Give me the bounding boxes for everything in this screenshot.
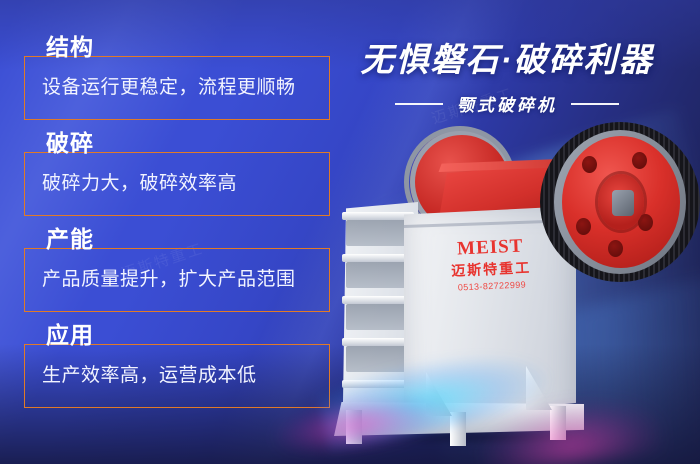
frame-recess [346,304,410,330]
flywheel-shaft [612,190,634,216]
main-flywheel [540,122,700,282]
feature-card-title: 破碎 [42,132,102,155]
feature-card-list: 结构 设备运行更稳定，流程更顺畅 破碎 破碎力大，破碎效率高 产能 产品质量提升… [24,38,330,422]
frame-fin [342,296,414,304]
frame-recess [346,220,410,246]
feature-card[interactable]: 产能 产品质量提升，扩大产品范围 [24,230,330,312]
headline-title: 无惧磐石·破碎利器 [332,42,682,78]
flywheel-hole [608,240,623,257]
frame-fin [342,212,414,220]
feature-card-title: 产能 [42,228,102,251]
dash-right-icon [571,103,619,105]
frame-recess [346,262,410,288]
feature-card-desc: 生产效率高，运营成本低 [42,360,320,387]
feature-card-desc: 破碎力大，破碎效率高 [42,168,320,195]
feature-card[interactable]: 结构 设备运行更稳定，流程更顺畅 [24,38,330,120]
feature-card[interactable]: 应用 生产效率高，运营成本低 [24,326,330,408]
flywheel-hole [582,156,597,173]
headline-block: 无惧磐石·破碎利器 颚式破碎机 [332,42,682,116]
flywheel-hole [576,218,591,235]
machine-branding: MEIST 迈斯特重工 0513-82722999 [425,235,557,294]
feature-card[interactable]: 破碎 破碎力大，破碎效率高 [24,134,330,216]
flywheel-hole [632,152,647,169]
dash-left-icon [395,103,443,105]
feature-card-desc: 设备运行更稳定，流程更顺畅 [42,72,320,99]
feature-card-title: 结构 [42,36,102,59]
promo-banner: 迈斯特重工 迈斯特重工 结构 设备运行更稳定，流程更顺畅 破碎 破碎力大，破碎效… [0,0,700,464]
brand-name-cn: 迈斯特重工 [426,259,556,279]
frame-fin [342,254,414,262]
feature-card-desc: 产品质量提升，扩大产品范围 [42,264,320,291]
frame-fin [342,338,414,346]
feature-card-title: 应用 [42,324,102,347]
